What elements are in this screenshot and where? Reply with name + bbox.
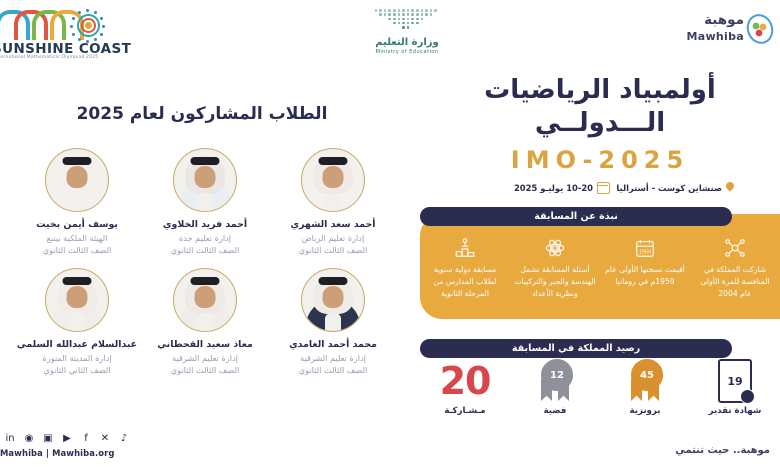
record-value: 20 xyxy=(440,359,491,403)
location-pin-icon xyxy=(726,182,734,193)
handshake-icon xyxy=(694,237,776,259)
youtube-icon[interactable]: ▶ xyxy=(61,432,73,444)
about-fact-text: شاركت المملكة في المنافسة للمرة الأولى ع… xyxy=(694,264,776,299)
student-grade: الصف الثالث الثانوي xyxy=(268,244,398,256)
tiktok-icon[interactable]: ♪ xyxy=(118,432,130,444)
moe-dots-mark-icon xyxy=(370,9,444,35)
record-label: شهادة تقدير xyxy=(690,406,780,416)
medal-icon: 45 xyxy=(628,359,662,403)
about-fact-text: أسئلة المسابقة تشمل الهندسة والجبر والتر… xyxy=(514,264,596,299)
imo-logo-subtitle: International Mathematical Olympiad 2025 xyxy=(0,55,98,60)
event-location: صنشاين كوست - أستراليا xyxy=(616,182,734,193)
about-fact: شاركت المملكة في المنافسة للمرة الأولى ع… xyxy=(690,237,780,319)
student-name: أحمد فريد الخلاوي xyxy=(140,219,270,232)
student-card: يوسف أيمن بخيتالهيئة الملكية بينبعالصف ا… xyxy=(12,148,142,256)
student-department: إدارة تعليم جدة xyxy=(140,232,270,244)
student-department: إدارة تعليم الشرقية xyxy=(268,352,398,364)
record-label: فضية xyxy=(510,406,600,416)
podium-icon xyxy=(424,237,506,259)
student-grade: الصف الثالث الثانوي xyxy=(12,244,142,256)
moe-logo-english: Ministry of Education xyxy=(352,49,462,55)
student-name: عبدالسلام عبدالله السلمي xyxy=(12,339,142,352)
record-item: 12فضية xyxy=(510,358,600,416)
record-value: 19 xyxy=(727,375,742,388)
record-value: 45 xyxy=(631,359,663,391)
record-item: 19شهادة تقدير xyxy=(690,358,780,416)
record-label: مـشـاركـة xyxy=(420,406,510,416)
event-title: أولمبياد الرياضيات الـــدولــي xyxy=(430,74,770,140)
event-code: IMO-2025 xyxy=(430,146,770,174)
record-value: 12 xyxy=(541,359,573,391)
student-department: إدارة تعليم الرياض xyxy=(268,232,398,244)
event-location-text: صنشاين كوست - أستراليا xyxy=(616,183,722,193)
record-item: 20مـشـاركـة xyxy=(420,358,510,416)
ministry-of-education-logo: وزارة التعليم Ministry of Education xyxy=(352,9,462,57)
imo-sun-icon xyxy=(72,9,106,41)
student-name: معاذ سعيد القحطاني xyxy=(140,339,270,352)
student-grade: الصف الثالث الثانوي xyxy=(140,364,270,376)
student-card: عبدالسلام عبدالله السلميإدارة المدينة ال… xyxy=(12,268,142,376)
event-meta: صنشاين كوست - أستراليا 10-20 يوليـو 2025 xyxy=(430,182,770,198)
instagram-icon[interactable]: ▣ xyxy=(42,432,54,444)
svg-text:1959: 1959 xyxy=(639,250,651,256)
about-fact: مسابقة دولية سنوية لطلاب المدارس من المر… xyxy=(420,237,510,319)
student-card: أحمد فريد الخلاويإدارة تعليم جدةالصف الث… xyxy=(140,148,270,256)
student-department: إدارة تعليم الشرقية xyxy=(140,352,270,364)
avatar xyxy=(173,268,237,332)
mawhiba-logo: موهبة Mawhiba xyxy=(678,10,774,56)
medal-icon: 12 xyxy=(538,359,572,403)
mawhiba-logo-arabic: موهبة xyxy=(704,12,744,28)
event-title-line2: الـــدولــي xyxy=(535,108,665,138)
student-card: محمد أحمد الغامديإدارة تعليم الشرقيةالصف… xyxy=(268,268,398,376)
event-dates-text: 10-20 يوليـو 2025 xyxy=(514,183,593,193)
footer-slogan: موهبة.. حيث تنتمي xyxy=(675,445,770,456)
about-facts: شاركت المملكة في المنافسة للمرة الأولى ع… xyxy=(420,237,780,319)
students-section: الطلاب المشاركون لعام 2025 أحمد سعد الشه… xyxy=(0,70,400,405)
linkedin-icon[interactable]: in xyxy=(4,432,16,444)
calendar-icon xyxy=(597,182,610,194)
imo-sunshine-coast-logo: SUNSHINE COAST International Mathematica… xyxy=(0,8,105,60)
record-item: 45برونزية xyxy=(600,358,690,416)
atom-icon xyxy=(514,237,596,259)
mawhiba-badge-icon xyxy=(746,14,774,44)
student-card: أحمد سعد الشهريإدارة تعليم الرياضالصف ال… xyxy=(268,148,398,256)
about-fact: 1959أقيمت نسختها الأولى عام 1959م في روم… xyxy=(600,237,690,319)
avatar xyxy=(45,268,109,332)
header: SUNSHINE COAST International Mathematica… xyxy=(0,0,780,66)
seal-icon xyxy=(740,389,755,404)
students-grid: أحمد سعد الشهريإدارة تعليم الرياضالصف ال… xyxy=(0,148,400,398)
student-grade: الصف الثاني الثانوي xyxy=(12,364,142,376)
student-department: الهيئة الملكية بينبع xyxy=(12,232,142,244)
student-grade: الصف الثالث الثانوي xyxy=(268,364,398,376)
x-icon[interactable]: ✕ xyxy=(99,432,111,444)
certificate-icon: 19 xyxy=(718,359,752,403)
avatar xyxy=(301,148,365,212)
event-panel: أولمبياد الرياضيات الـــدولــي IMO-2025 … xyxy=(420,62,780,412)
avatar xyxy=(45,148,109,212)
student-card: معاذ سعيد القحطانيإدارة تعليم الشرقيةالص… xyxy=(140,268,270,376)
about-heading: نبذة عن المسابقة xyxy=(420,207,732,226)
moe-logo-arabic: وزارة التعليم xyxy=(352,37,462,48)
poster-root: SUNSHINE COAST International Mathematica… xyxy=(0,0,780,470)
record-heading: رصيد المملكة في المسابقة xyxy=(420,339,732,358)
footer: in◉▣▶f✕♪ Mawhiba | Mawhiba.org موهبة.. ح… xyxy=(0,418,780,470)
student-grade: الصف الثالث الثانوي xyxy=(140,244,270,256)
students-section-title: الطلاب المشاركون لعام 2025 xyxy=(22,104,382,124)
avatar xyxy=(173,148,237,212)
facebook-icon[interactable]: f xyxy=(80,432,92,444)
mawhiba-logo-english: Mawhiba xyxy=(686,30,744,43)
calendar-1959-icon: 1959 xyxy=(604,237,686,259)
event-dates: 10-20 يوليـو 2025 xyxy=(514,182,610,194)
student-department: إدارة المدينة المنورة xyxy=(12,352,142,364)
record-label: برونزية xyxy=(600,406,690,416)
student-name: أحمد سعد الشهري xyxy=(268,219,398,232)
event-title-line1: أولمبياد الرياضيات xyxy=(484,75,716,105)
about-fact-text: مسابقة دولية سنوية لطلاب المدارس من المر… xyxy=(424,264,506,299)
student-name: محمد أحمد الغامدي xyxy=(268,339,398,352)
about-fact: أسئلة المسابقة تشمل الهندسة والجبر والتر… xyxy=(510,237,600,319)
footer-handles[interactable]: Mawhiba | Mawhiba.org xyxy=(0,448,114,458)
about-fact-text: أقيمت نسختها الأولى عام 1959م في رومانيا xyxy=(604,264,686,288)
avatar xyxy=(301,268,365,332)
snapchat-icon[interactable]: ◉ xyxy=(23,432,35,444)
social-links[interactable]: in◉▣▶f✕♪ xyxy=(4,432,130,444)
student-name: يوسف أيمن بخيت xyxy=(12,219,142,232)
